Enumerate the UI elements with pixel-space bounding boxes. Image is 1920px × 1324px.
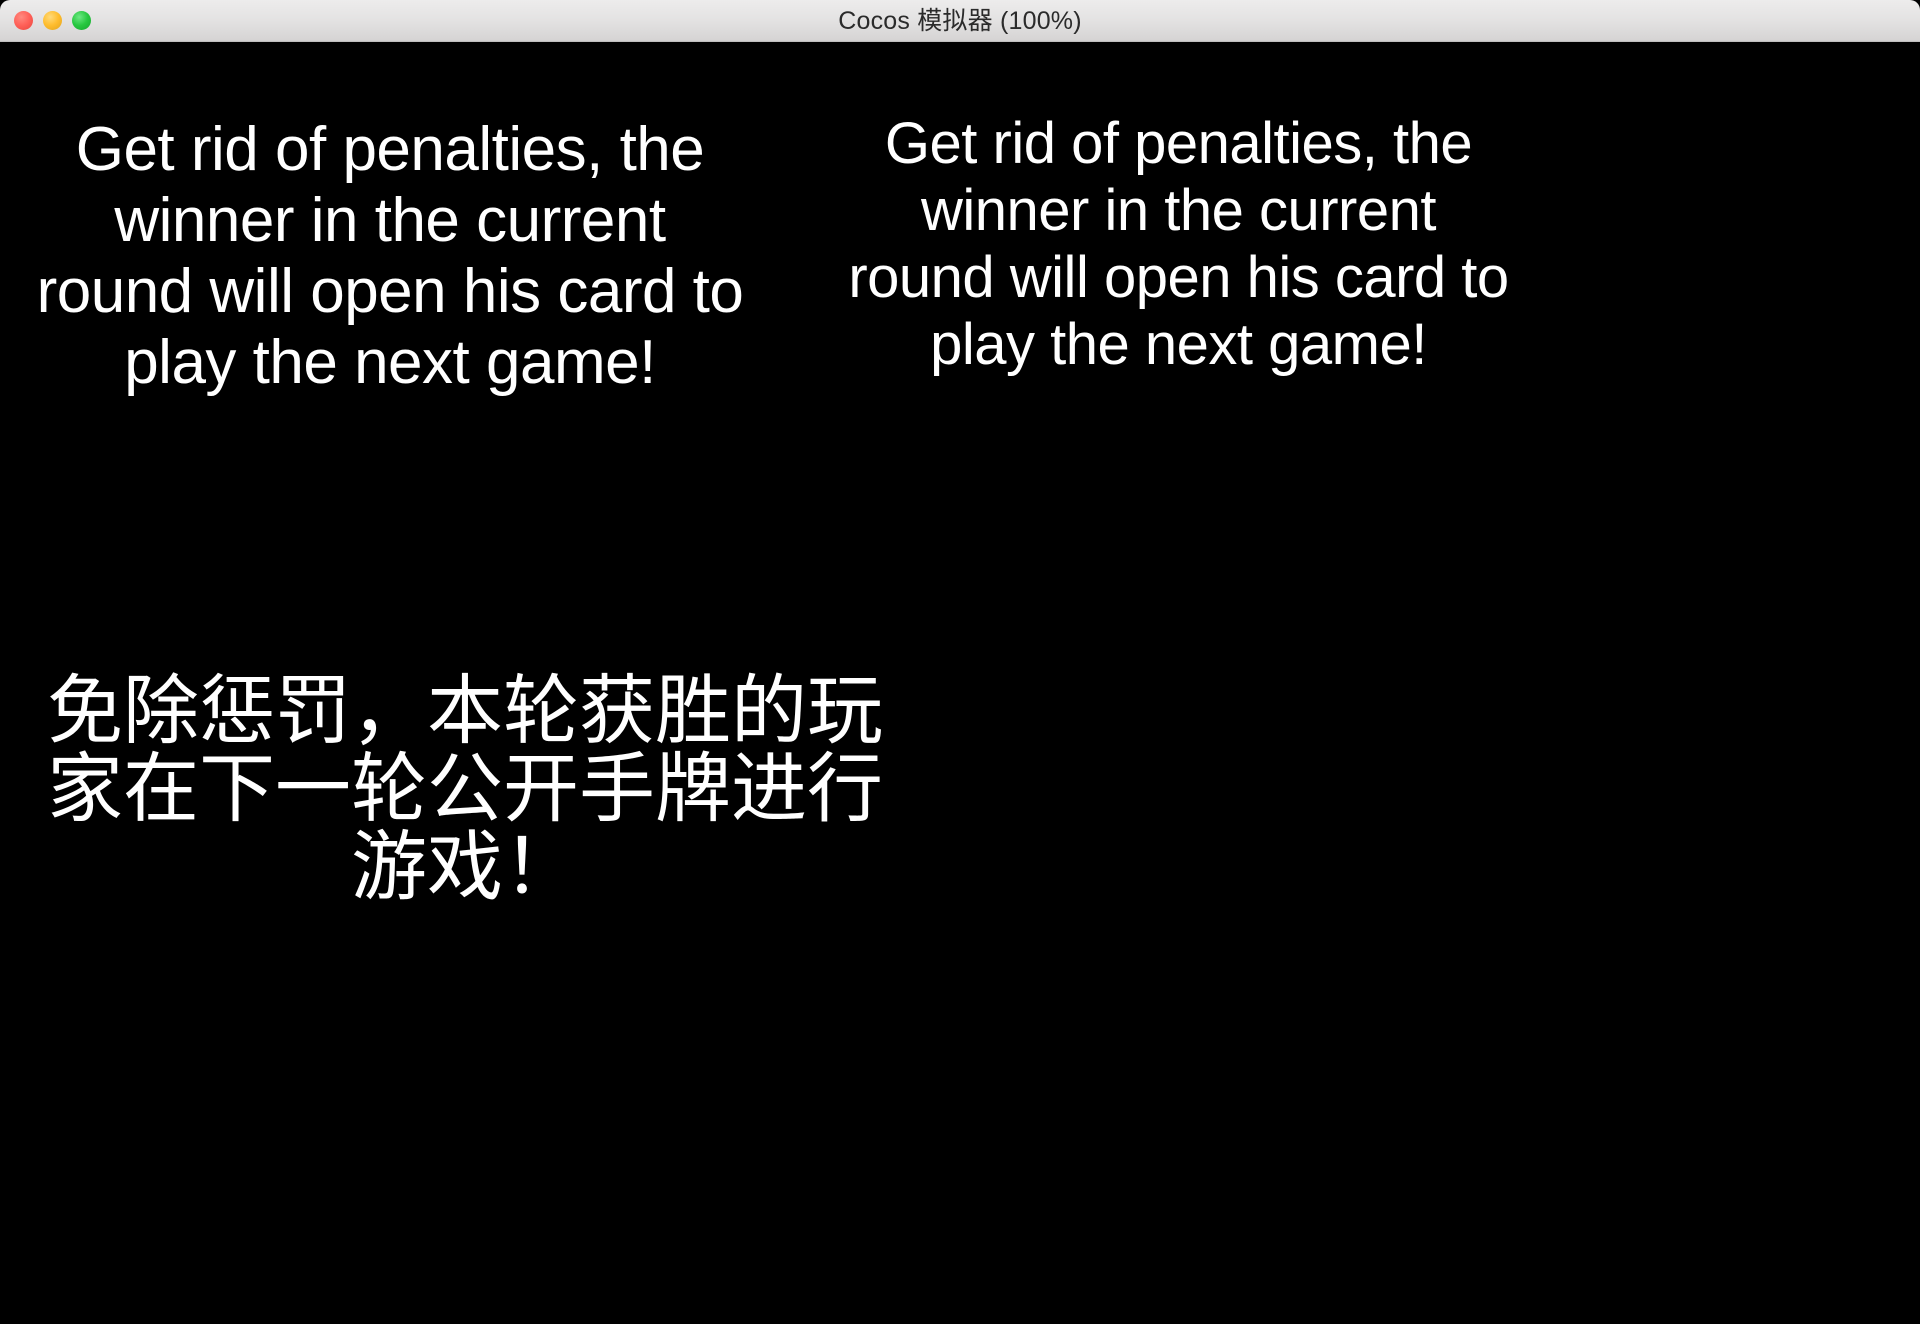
game-canvas[interactable]: Get rid of penalties, the winner in the … <box>0 42 1920 1324</box>
rule-text-english-secondary: Get rid of penalties, the winner in the … <box>847 110 1510 378</box>
rule-text-chinese: 免除惩罚，本轮获胜的玩家在下一轮公开手牌进行游戏！ <box>40 672 890 906</box>
window-titlebar[interactable]: Cocos 模拟器 (100%) <box>0 0 1920 42</box>
window-title: Cocos 模拟器 (100%) <box>0 0 1920 42</box>
simulator-window: Cocos 模拟器 (100%) Get rid of penalties, t… <box>0 0 1920 1324</box>
rule-text-english-primary: Get rid of penalties, the winner in the … <box>34 114 746 398</box>
